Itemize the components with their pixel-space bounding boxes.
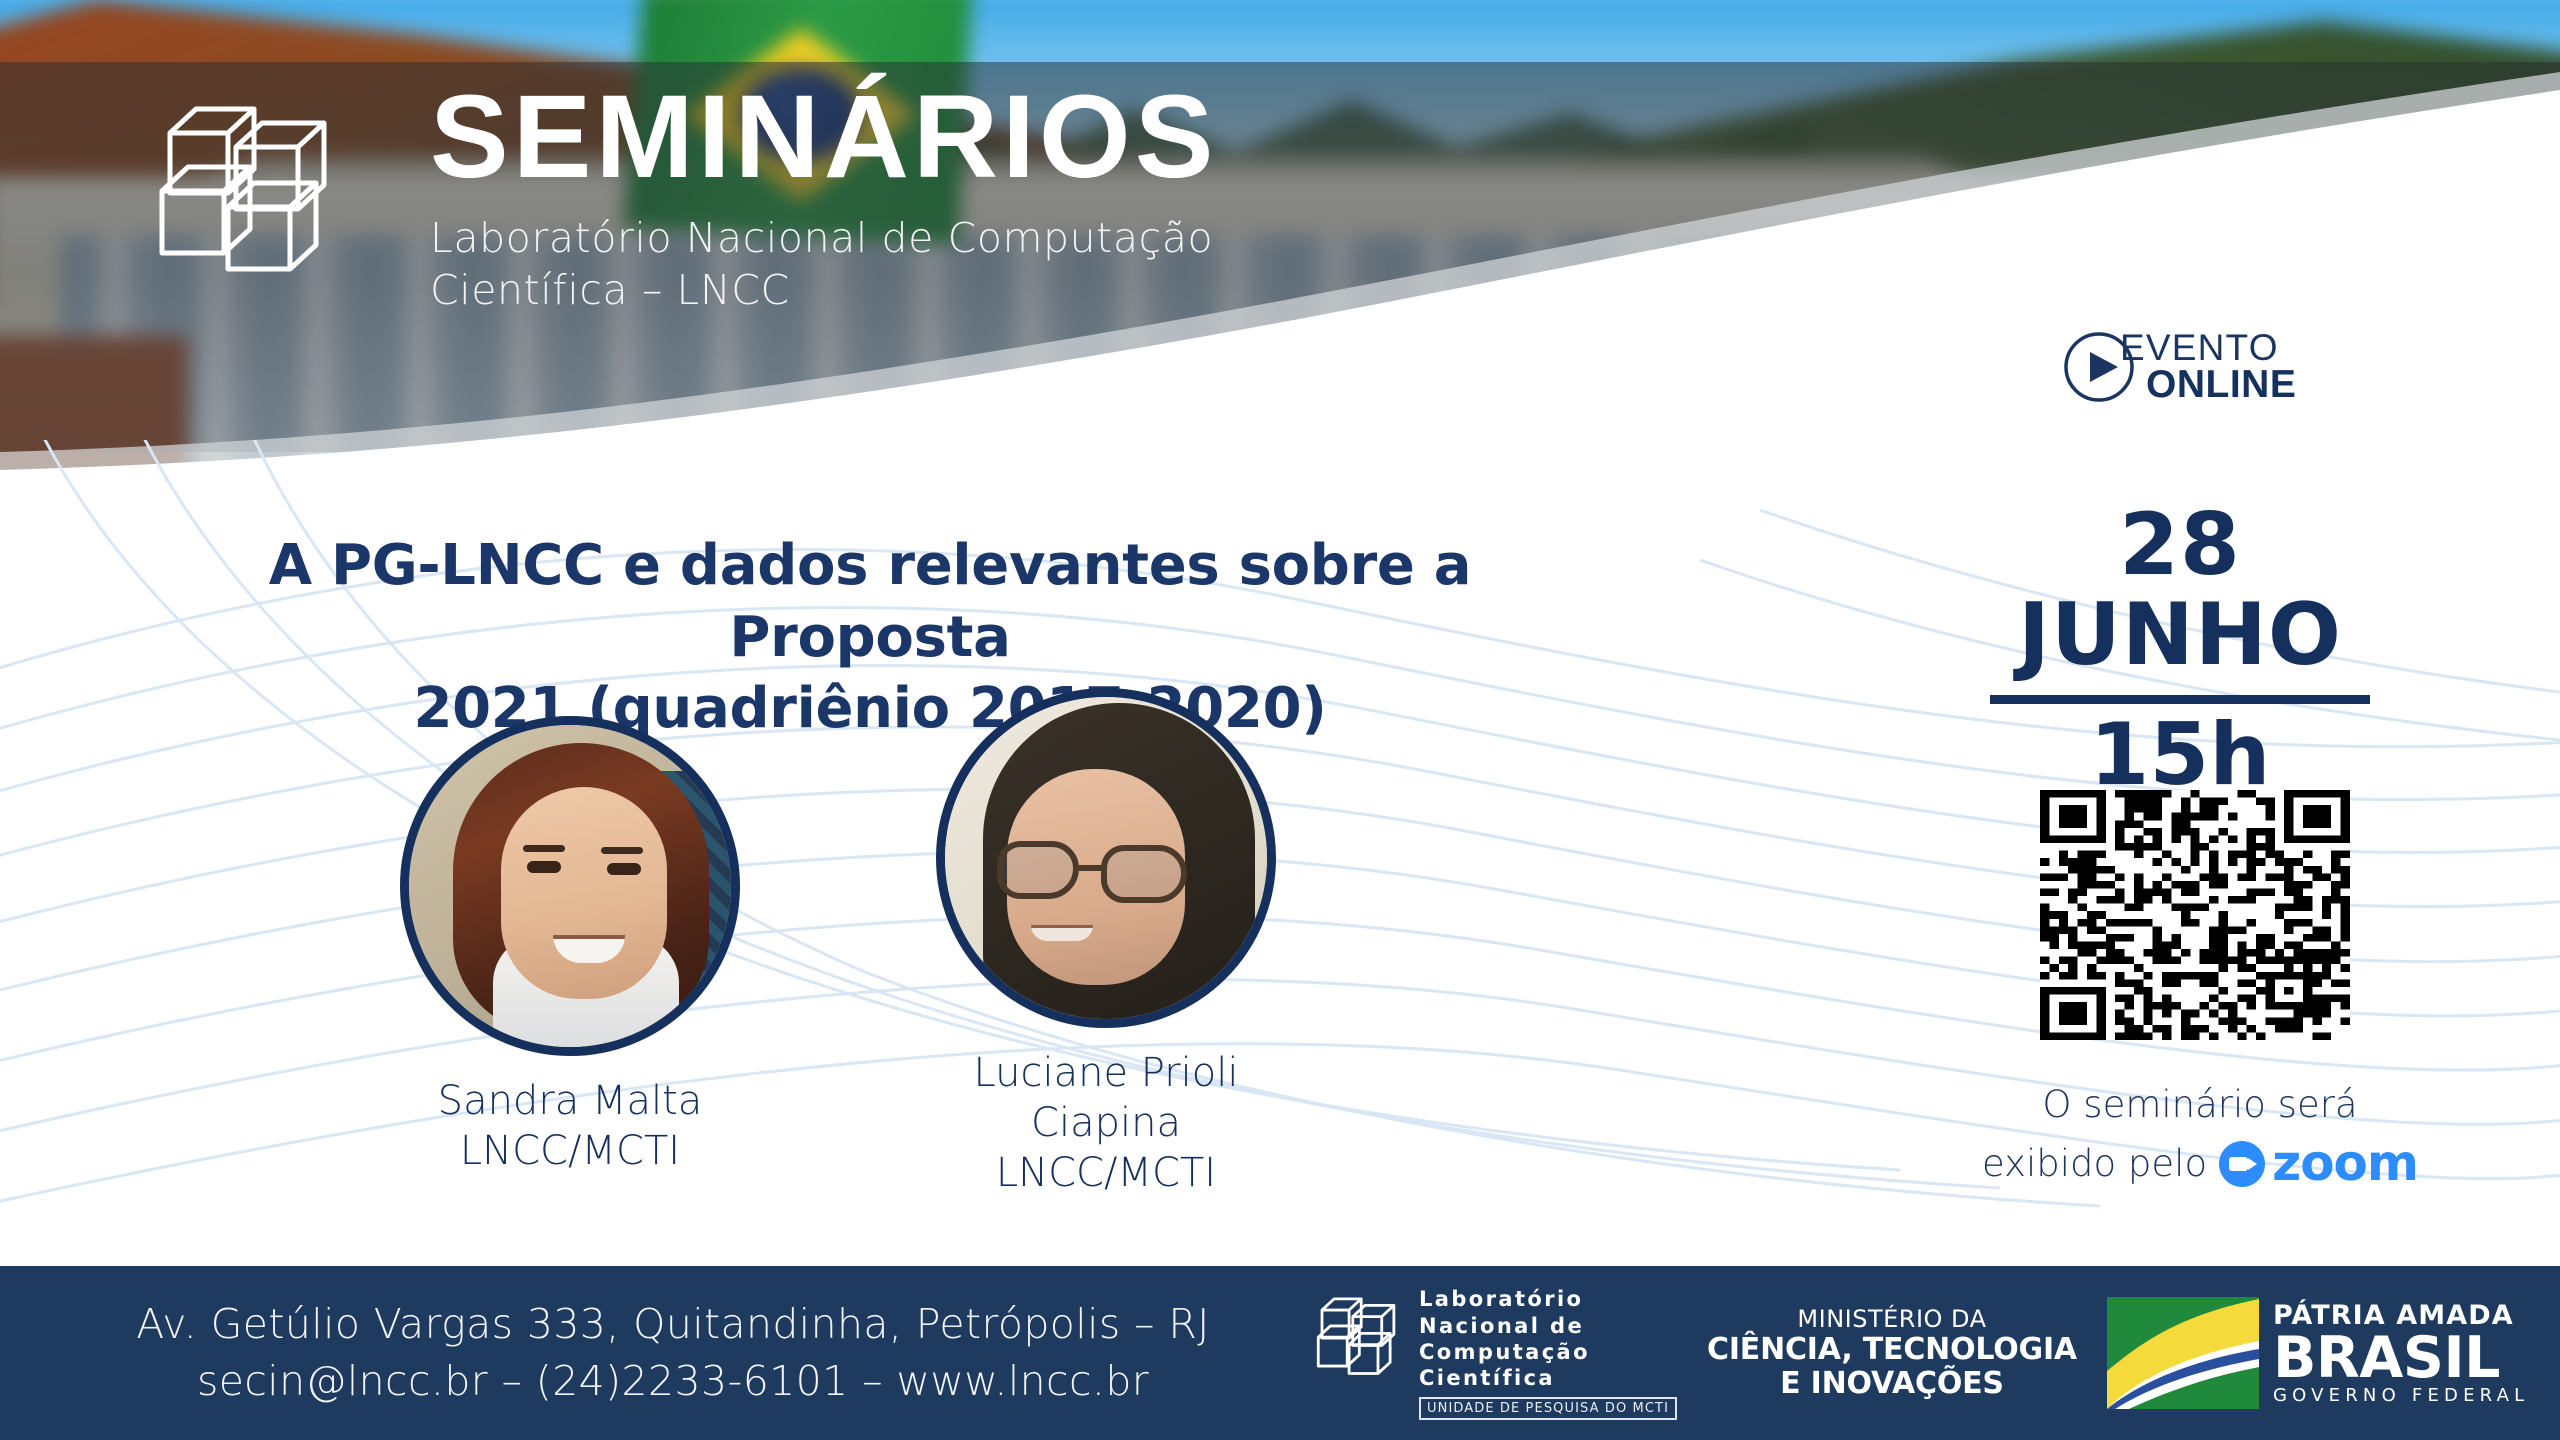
brand-block: SEMINÁRIOS Laboratório Nacional de Compu… xyxy=(430,78,1217,317)
footer-logos: Laboratório Nacional de Computação Cient… xyxy=(1308,1286,2529,1420)
footer-mcti-logo: MINISTÉRIO DA CIÊNCIA, TECNOLOGIA E INOV… xyxy=(1707,1305,2077,1401)
speaker-name: Luciane Prioli Ciapina xyxy=(936,1048,1276,1148)
online-event-badge: EVENTO ONLINE xyxy=(2062,330,2296,404)
event-time: 15h xyxy=(1950,710,2410,800)
platform-note-line2: exibido pelo xyxy=(1982,1139,2207,1189)
lncc-cubes-logo-icon xyxy=(140,95,350,295)
zoom-camera-icon xyxy=(2219,1141,2265,1187)
footer-address-line1: Av. Getúlio Vargas 333, Quitandinha, Pet… xyxy=(58,1296,1288,1353)
mcti-line3: E INOVAÇÕES xyxy=(1707,1367,2077,1401)
zoom-wordmark: zoom xyxy=(2272,1130,2418,1198)
speakers-list: Sandra Malta LNCC/MCTI Luciane Prioli Ci… xyxy=(400,730,1276,1240)
portrait-face xyxy=(501,787,667,999)
avatar xyxy=(400,716,740,1056)
footer-bar: Av. Getúlio Vargas 333, Quitandinha, Pet… xyxy=(0,1266,2560,1440)
lncc-line4: Científica xyxy=(1419,1365,1677,1391)
play-circle-icon xyxy=(2062,330,2136,404)
portrait-eye-right xyxy=(607,863,641,875)
platform-note: O seminário será exibido pelo zoom xyxy=(1930,1080,2470,1197)
speaker-card: Sandra Malta LNCC/MCTI xyxy=(400,716,740,1226)
talk-title-line1: A PG-LNCC e dados relevantes sobre a Pro… xyxy=(160,530,1580,673)
brand-subtitle-line2: Científica – LNCC xyxy=(430,264,1217,316)
brasil-line3: GOVERNO FEDERAL xyxy=(2273,1385,2529,1406)
eyeglass-bridge xyxy=(1079,865,1103,871)
portrait-eyeglasses-icon xyxy=(997,839,1193,901)
lncc-line2: Nacional de xyxy=(1419,1313,1677,1339)
portrait-brow-left xyxy=(523,845,565,852)
lncc-research-unit-badge: UNIDADE DE PESQUISA DO MCTI xyxy=(1419,1397,1677,1420)
footer-brasil-logo: PÁTRIA AMADA BRASIL GOVERNO FEDERAL xyxy=(2107,1297,2529,1409)
portrait-smile xyxy=(1031,925,1093,941)
qr-code-icon[interactable] xyxy=(2040,790,2350,1040)
brand-subtitle-line1: Laboratório Nacional de Computação xyxy=(430,212,1217,264)
avatar xyxy=(936,688,1276,1028)
brasil-line2: BRASIL xyxy=(2273,1331,2529,1386)
portrait-eye-left xyxy=(527,861,561,873)
footer-address-line2: secin@lncc.br – (24)2233-6101 – www.lncc… xyxy=(58,1353,1288,1410)
mcti-line2: CIÊNCIA, TECNOLOGIA xyxy=(1707,1333,2077,1367)
eyeglass-lens-left xyxy=(997,841,1079,899)
badge-line-online: ONLINE xyxy=(2120,366,2296,404)
page-title: SEMINÁRIOS xyxy=(430,78,1217,196)
speaker-name: Sandra Malta xyxy=(438,1076,703,1126)
portrait-brow-right xyxy=(601,847,643,854)
lncc-line3: Computação xyxy=(1419,1339,1677,1365)
lncc-line1: Laboratório xyxy=(1419,1286,1677,1312)
platform-note-line1: O seminário será xyxy=(1930,1080,2470,1130)
schedule-block: 28 JUNHO 15h xyxy=(1950,500,2410,800)
footer-lncc-logo: Laboratório Nacional de Computação Cient… xyxy=(1308,1286,1677,1420)
divider xyxy=(1990,695,2370,704)
event-date: 28 JUNHO xyxy=(1950,500,2410,681)
eyeglass-lens-right xyxy=(1101,845,1187,903)
speaker-affiliation: LNCC/MCTI xyxy=(460,1126,680,1176)
lncc-cubes-logo-icon xyxy=(1308,1286,1406,1392)
talk-title: A PG-LNCC e dados relevantes sobre a Pro… xyxy=(160,530,1580,745)
speaker-affiliation: LNCC/MCTI xyxy=(996,1148,1216,1198)
brasil-flag-swoosh-icon xyxy=(2107,1297,2259,1409)
speaker-card: Luciane Prioli Ciapina LNCC/MCTI xyxy=(936,688,1276,1198)
badge-line-evento: EVENTO xyxy=(2120,330,2296,366)
zoom-logo: zoom xyxy=(2219,1130,2418,1198)
mcti-line1: MINISTÉRIO DA xyxy=(1707,1305,2077,1333)
brand-subtitle: Laboratório Nacional de Computação Cient… xyxy=(430,212,1217,317)
event-poster: SEMINÁRIOS Laboratório Nacional de Compu… xyxy=(0,0,2560,1440)
footer-address: Av. Getúlio Vargas 333, Quitandinha, Pet… xyxy=(58,1296,1288,1409)
